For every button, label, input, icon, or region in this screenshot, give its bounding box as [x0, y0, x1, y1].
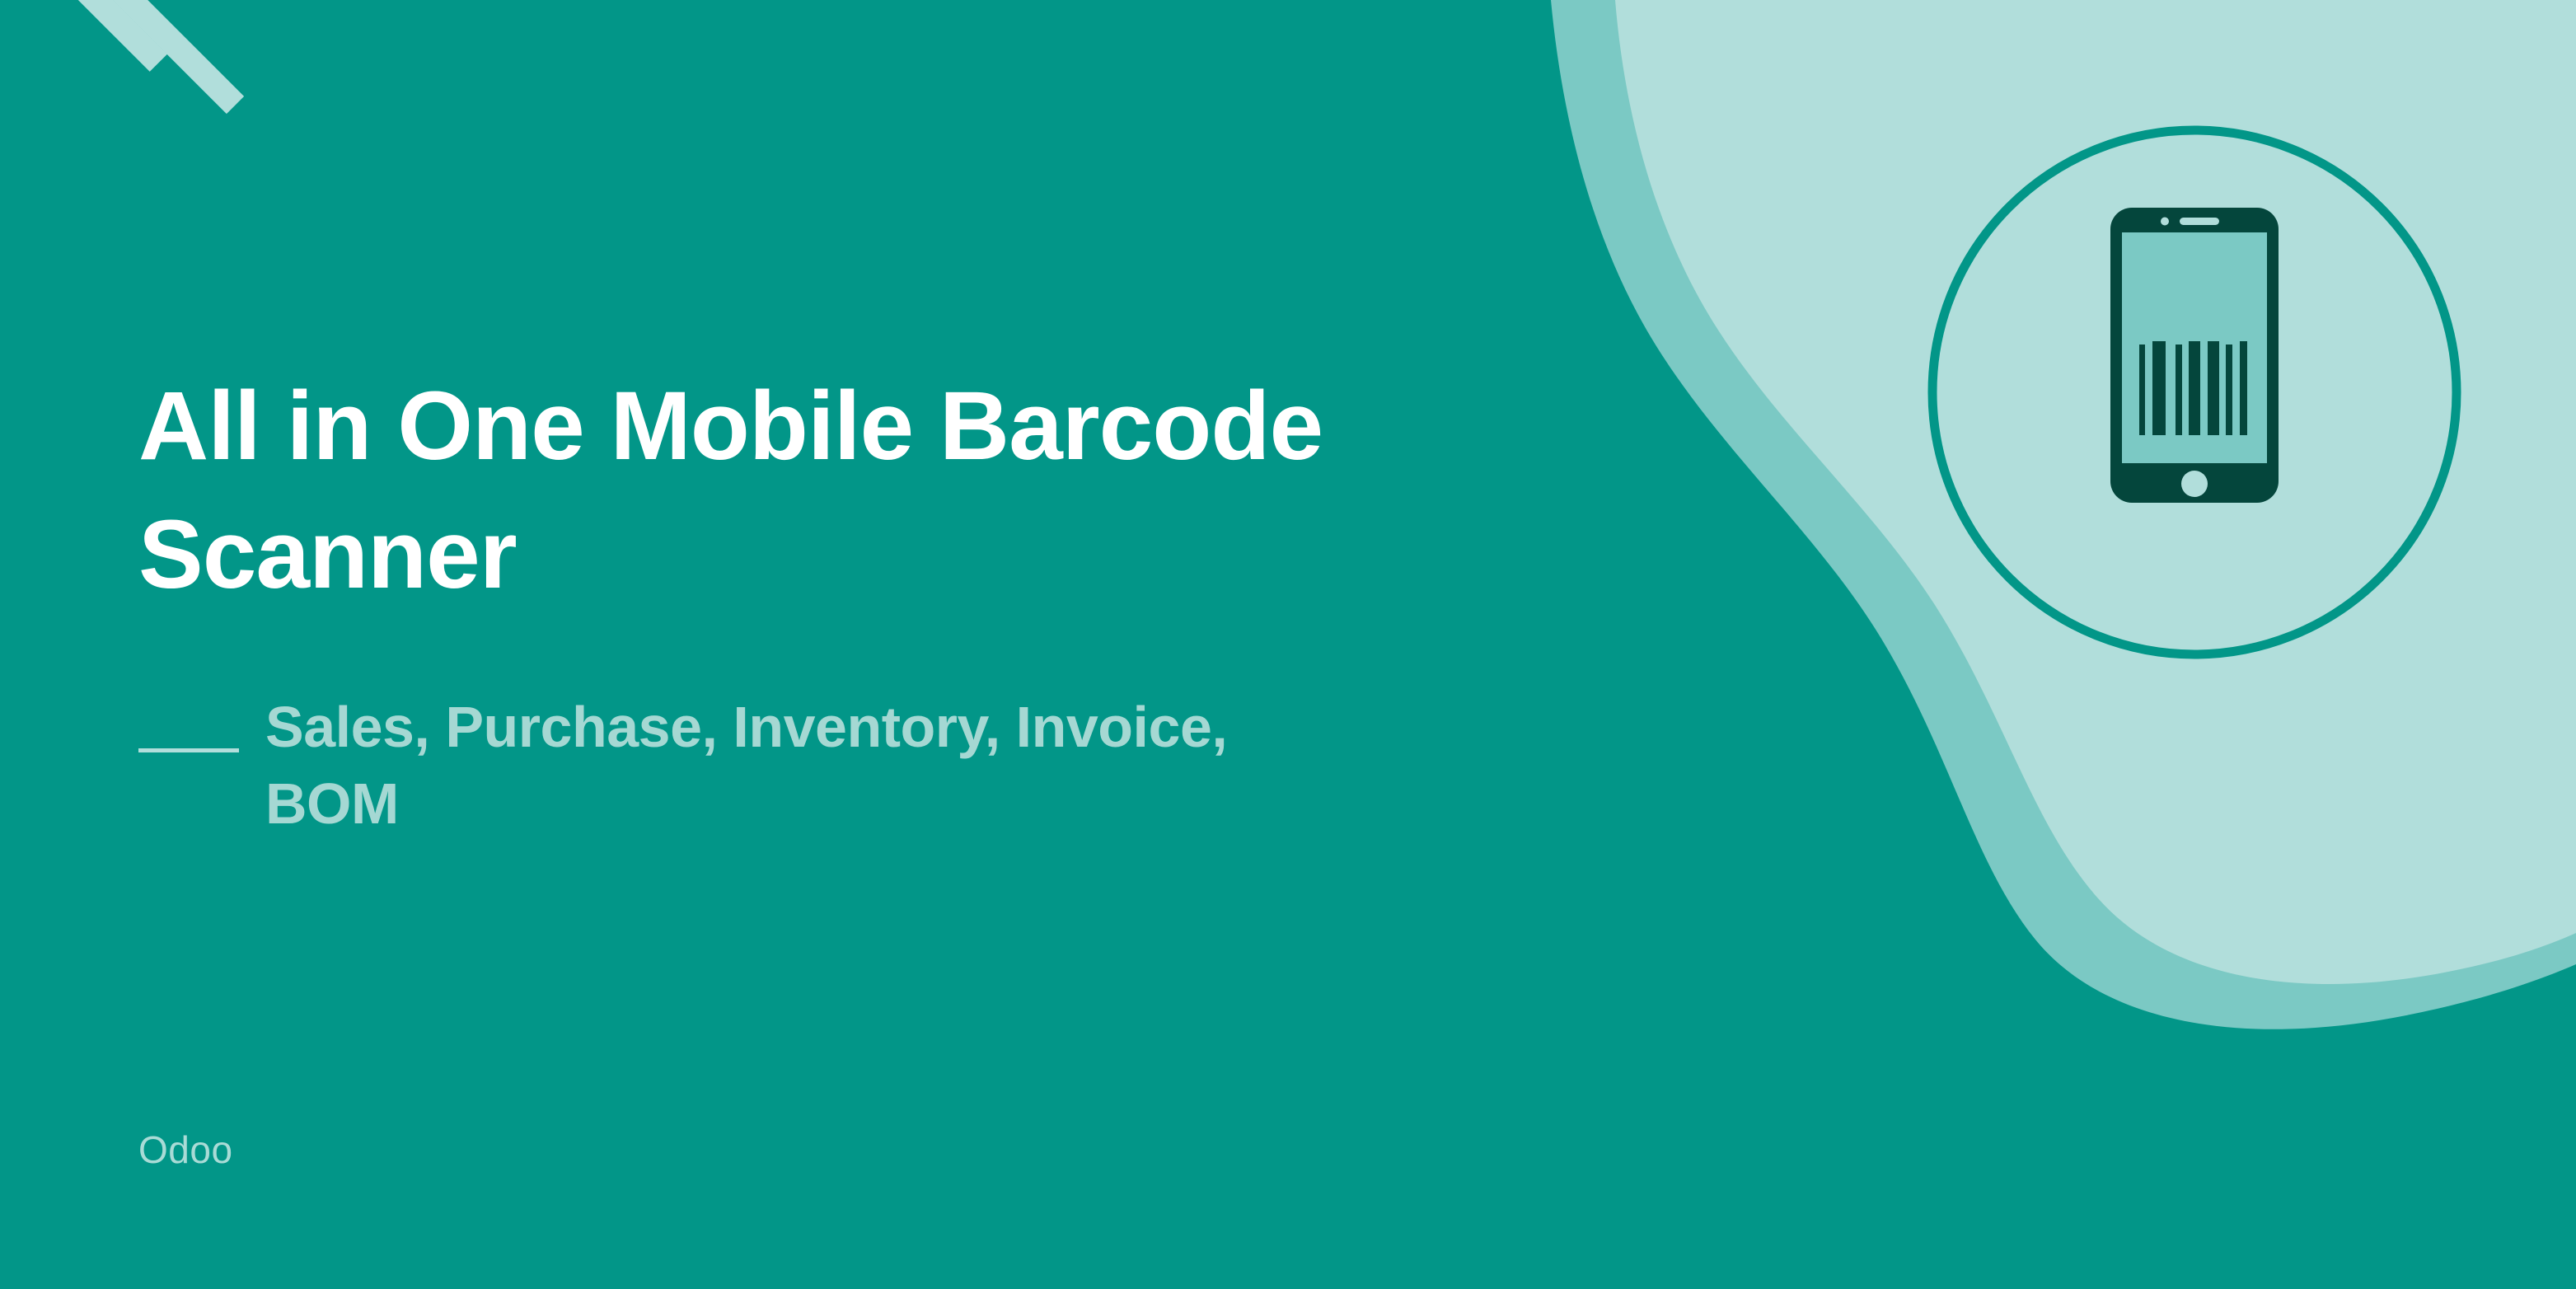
- page-title: All in One Mobile Barcode Scanner: [138, 363, 1704, 620]
- barcode-bar: [2152, 341, 2166, 435]
- brand-label: Odoo: [138, 1127, 233, 1172]
- barcode-bar: [2139, 345, 2145, 435]
- barcode-icon: [2139, 341, 2247, 435]
- subtitle-row: Sales, Purchase, Inventory, Invoice, BOM: [138, 689, 1704, 842]
- mobile-barcode-scanner-badge: [1924, 122, 2465, 663]
- subtitle-rule-divider: [138, 748, 239, 752]
- barcode-bar: [2240, 341, 2247, 435]
- text-content: All in One Mobile Barcode Scanner Sales,…: [138, 0, 1745, 1289]
- barcode-bar: [2176, 345, 2182, 435]
- page-subtitle: Sales, Purchase, Inventory, Invoice, BOM: [265, 689, 1617, 842]
- phone-home-button: [2181, 471, 2208, 497]
- slide-canvas: All in One Mobile Barcode Scanner Sales,…: [0, 0, 2576, 1289]
- barcode-bar: [2208, 341, 2219, 435]
- phone-speaker: [2180, 218, 2219, 225]
- badge-svg: [1924, 122, 2465, 663]
- phone-camera: [2161, 218, 2169, 226]
- mobile-barcode-scanner-icon: [2110, 208, 2279, 503]
- barcode-bar: [2189, 341, 2200, 435]
- barcode-bar: [2226, 345, 2232, 435]
